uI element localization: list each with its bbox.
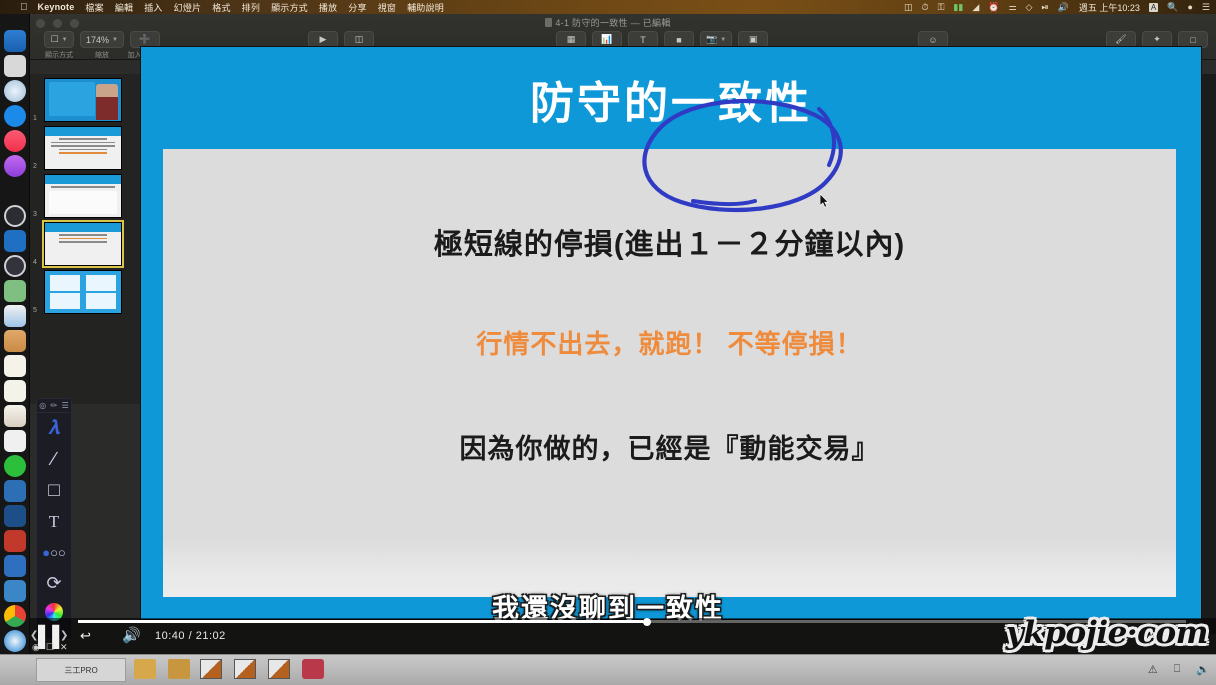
list-item[interactable]: 2 [44, 126, 122, 170]
menu-item-edit[interactable]: 編輯 [115, 1, 133, 14]
player-window-controls: ◉ ☐ ✕ [32, 642, 67, 653]
shape-icon: ■ [676, 35, 681, 45]
chevron-down-icon: ▼ [720, 37, 726, 43]
media-icon: 📷 [706, 34, 717, 45]
chevron-down-icon: ▼ [62, 37, 68, 43]
taskbar-icon-browser-1[interactable] [200, 659, 222, 679]
screen-root:  Keynote 檔案 編輯 插入 幻燈片 格式 排列 顯示方式 播放 分享 … [0, 0, 1216, 685]
shapes-tool[interactable]: ●○○ [37, 537, 71, 568]
next-icon[interactable]: ❯ [60, 630, 68, 641]
insert-text-button[interactable]: T 文字 [628, 31, 658, 48]
slide-number: 3 [33, 211, 37, 218]
menu-item-insert[interactable]: 插入 [144, 1, 162, 14]
video-current-time: 10:40 [155, 630, 185, 642]
toolbar-collaborate-group: ☺ 合作 [918, 31, 948, 48]
video-timecode: 10:40 / 21:02 [155, 630, 226, 642]
insert-comment-button[interactable]: ▣ 註解 [738, 31, 768, 48]
table-icon: ▦ [567, 34, 576, 45]
dock-icon-notes[interactable] [4, 330, 26, 352]
insert-chart-button[interactable]: 📊 圖表 [592, 31, 622, 48]
speaker-icon[interactable]: 🔉 [1196, 663, 1210, 676]
target-icon[interactable]: ◎ [39, 401, 46, 410]
document-icon [545, 18, 552, 27]
dock-icon-line[interactable] [4, 455, 26, 477]
play-icon: ▶ [320, 34, 327, 45]
slide-thumbnail-3[interactable] [44, 174, 122, 218]
list-item[interactable]: 1 [44, 78, 122, 122]
menu-bar-status-area: ◫ ⏱ ⚿ ▮▮ ◢ ⏰ ⚌ ◇ ⏯ 🔊 週五 上午10:23 A 🔍 ● ☰ [895, 1, 1210, 14]
document-panel-icon: □ [1190, 35, 1195, 45]
slide-text-line-3: 因為你做的，已經是『動能交易』 [163, 427, 1176, 466]
bottom-taskbar[interactable]: 三工PRO ⚠ ⎕ 🔉 [0, 654, 1216, 685]
dock-icon-appstore[interactable] [4, 105, 26, 127]
dock-icon-appletv[interactable] [4, 180, 26, 202]
menu-item-format[interactable]: 格式 [212, 1, 230, 14]
wifi-icon[interactable]: ⚌ [1008, 2, 1016, 13]
toolbar-play-group: ▶ 播放 ◫ Keynote 直播 [308, 31, 374, 48]
dock-icon-stickies[interactable] [4, 380, 26, 402]
slide-thumbnail-4[interactable] [44, 222, 122, 266]
taskbar-icon-pin[interactable] [168, 659, 190, 679]
menu-item-help[interactable]: 輔助說明 [407, 1, 444, 14]
input-source-indicator[interactable]: A [1149, 3, 1158, 12]
taskbar-icon-app-red[interactable] [302, 659, 324, 679]
battery-icon[interactable]: ▮▮ [953, 2, 963, 13]
insert-table-button[interactable]: ▦ 表格 [556, 31, 586, 48]
add-slide-button[interactable]: ➕ 加入幻燈片 [130, 31, 160, 48]
window-title-text: 4-1 防守的一致性 — 已編輯 [555, 18, 670, 28]
slide-number: 5 [33, 307, 37, 314]
video-progress-fill [78, 620, 643, 623]
zoom-level-button[interactable]: 174%▼ 縮放 [80, 31, 124, 48]
mouse-cursor [820, 194, 830, 208]
dropbox-icon[interactable]: ◇ [1026, 2, 1033, 13]
text-tool[interactable]: T [37, 506, 71, 537]
dock-icon-finder[interactable] [4, 30, 26, 52]
clock-icon[interactable]: ⏱ [922, 2, 929, 13]
thumb-header-band [45, 223, 121, 232]
page-title: 防守的一致性 [141, 67, 1201, 131]
insert-media-button[interactable]: 📷▼ 媒體 [700, 31, 732, 48]
chart-icon: 📊 [601, 34, 612, 45]
taskbar-icon-folder[interactable] [134, 659, 156, 679]
menu-item-share[interactable]: 分享 [348, 1, 366, 14]
video-total-time: 21:02 [196, 630, 226, 642]
stop-icon[interactable]: ☐ [46, 642, 54, 653]
document-panel-button[interactable]: □ 文件 [1178, 31, 1208, 48]
thumb-header-band [45, 127, 121, 136]
animate-panel-button[interactable]: ✦ 動畫效果 [1142, 31, 1172, 48]
taskbar-icon-browser-2[interactable] [234, 659, 256, 679]
dock-icon-obs-studio[interactable] [4, 255, 26, 277]
slide-body-panel: 極短線的停損(進出１－２分鐘以內) 行情不出去，就跑！ 不等停損！ 因為你做的，… [163, 149, 1176, 597]
dock-icon-preview[interactable] [4, 305, 26, 327]
slide-thumbnail-1[interactable] [44, 78, 122, 122]
list-item[interactable]: 3 [44, 174, 122, 218]
menu-item-file[interactable]: 檔案 [85, 1, 103, 14]
pen-tool[interactable]: 𝛌 [37, 413, 71, 444]
dock-icon-pages[interactable] [4, 355, 26, 377]
dock-icon-numbers[interactable] [4, 430, 26, 452]
eject-icon[interactable]: ⏯ [1041, 2, 1048, 13]
zoom-level-label: 縮放 [95, 50, 109, 60]
taskbar-tray: ⚠ ⎕ 🔉 [1148, 663, 1210, 676]
apple-logo-icon[interactable]:  [20, 2, 28, 13]
dock-icon-music[interactable] [4, 130, 26, 152]
comment-icon: ▣ [749, 34, 758, 45]
menu-item-arrange[interactable]: 排列 [242, 1, 260, 14]
menu-item-play[interactable]: 播放 [319, 1, 337, 14]
eyedropper-icon[interactable]: ✏ [51, 401, 58, 410]
dock-icon-app-red[interactable] [4, 530, 26, 552]
screen-record-icon[interactable]: ◫ [904, 2, 913, 13]
slide-number: 2 [33, 163, 37, 170]
list-icon[interactable]: ☰ [1202, 2, 1210, 13]
slide-thumbnail-5[interactable] [44, 270, 122, 314]
slide-navigator[interactable]: 1 2 3 [30, 74, 140, 404]
slide-thumbnail-2[interactable] [44, 126, 122, 170]
window-title: 4-1 防守的一致性 — 已編輯 [0, 16, 1216, 29]
brush-icon: 🖌 [1115, 34, 1126, 45]
toolbar-right-group: 🖌 格式 ✦ 動畫效果 □ 文件 [1106, 31, 1208, 48]
macos-menu-bar:  Keynote 檔案 編輯 插入 幻燈片 格式 排列 顯示方式 播放 分享 … [0, 0, 1216, 14]
text-icon: T [640, 35, 646, 45]
dock-icon-obs[interactable] [4, 205, 26, 227]
menu-item-slide[interactable]: 幻燈片 [174, 1, 202, 14]
collaborate-button[interactable]: ☺ 合作 [918, 31, 948, 48]
plus-icon: ➕ [139, 34, 150, 45]
menu-item-keynote[interactable]: Keynote [38, 2, 75, 12]
list-item[interactable]: 4 [44, 222, 122, 266]
graph-icon[interactable]: ◢ [972, 2, 979, 13]
palette-header: ◎ ✏ ☰ [37, 399, 71, 413]
zoom-level-value: 174% [86, 35, 109, 45]
dock-icon-app-blue-1[interactable] [4, 480, 26, 502]
play-button[interactable]: ▶ 播放 [308, 31, 338, 48]
chevron-down-icon: ▼ [112, 37, 118, 43]
slide-text-line-2: 行情不出去，就跑！ 不等停損！ [163, 324, 1176, 361]
slide-canvas[interactable]: 防守的一致性 極短線的停損(進出１－２分鐘以內) 行情不出去，就跑！ 不等停損！… [141, 47, 1201, 619]
menu-item-window[interactable]: 視窗 [378, 1, 396, 14]
lock-icon[interactable]: ⚿ [938, 2, 945, 13]
view-options-label: 顯示方式 [45, 50, 73, 60]
record-icon[interactable]: ◉ [32, 642, 40, 653]
toolbar-left-group: ☐▼ 顯示方式 174%▼ 縮放 ➕ 加入幻燈片 [44, 31, 160, 48]
view-icon: ☐ [50, 34, 58, 45]
insert-shape-button[interactable]: ■ 形狀 [664, 31, 694, 48]
menu-bar-clock[interactable]: 週五 上午10:23 [1079, 1, 1140, 14]
slide-number: 1 [33, 115, 37, 122]
slide-number: 4 [33, 259, 37, 266]
keynote-live-button[interactable]: ◫ Keynote 直播 [344, 31, 374, 48]
live-icon: ◫ [355, 34, 364, 45]
list-item[interactable]: 5 [44, 270, 122, 314]
macos-dock[interactable] [0, 14, 30, 685]
format-panel-button[interactable]: 🖌 格式 [1106, 31, 1136, 48]
video-progress-knob[interactable] [643, 618, 651, 626]
line-tool[interactable]: ∕ [37, 444, 71, 475]
dock-icon-app-blue-3[interactable] [4, 555, 26, 577]
dock-icon-keynote-app[interactable] [4, 405, 26, 427]
dock-icon-app-blue-2[interactable] [4, 505, 26, 527]
view-options-button[interactable]: ☐▼ 顯示方式 [44, 31, 74, 48]
dock-icon-podcasts[interactable] [4, 155, 26, 177]
dock-icon-teamviewer[interactable] [4, 230, 26, 252]
siri-icon[interactable]: ● [1187, 2, 1192, 12]
monitor-icon[interactable]: ⎕ [1174, 663, 1181, 676]
desktop-right-strip [1201, 74, 1216, 634]
video-time-separator: / [189, 630, 193, 642]
close-icon[interactable]: ✕ [60, 642, 68, 653]
dock-icon-launchpad[interactable] [4, 55, 26, 77]
taskbar-icon-browser-3[interactable] [268, 659, 290, 679]
warning-icon[interactable]: ⚠ [1148, 663, 1158, 676]
collaborate-icon: ☺ [928, 35, 937, 45]
toolbar-insert-group: ▦ 表格 📊 圖表 T 文字 ■ 形狀 📷▼ 媒體 [556, 31, 768, 48]
thumb-header-band [45, 175, 121, 184]
search-icon[interactable]: 🔍 [1167, 2, 1178, 13]
taskbar-app-button[interactable]: 三工PRO [36, 658, 126, 682]
menu-icon[interactable]: ☰ [62, 401, 69, 410]
dock-icon-safari-2[interactable] [4, 630, 26, 652]
site-watermark: ykpojie·com [1006, 615, 1208, 651]
dock-icon-money[interactable] [4, 280, 26, 302]
timemachine-icon[interactable]: ⏰ [988, 2, 999, 13]
loop-icon[interactable]: ↩ [80, 628, 91, 644]
menu-item-view[interactable]: 顯示方式 [271, 1, 308, 14]
dock-icon-safari[interactable] [4, 80, 26, 102]
rectangle-tool[interactable]: □ [37, 475, 71, 506]
slide-text-line-1: 極短線的停損(進出１－２分鐘以內) [163, 221, 1176, 263]
animate-icon: ✦ [1153, 34, 1161, 45]
volume-icon[interactable]: 🔊 [1058, 2, 1069, 13]
volume-icon[interactable]: 🔊 [122, 626, 141, 644]
